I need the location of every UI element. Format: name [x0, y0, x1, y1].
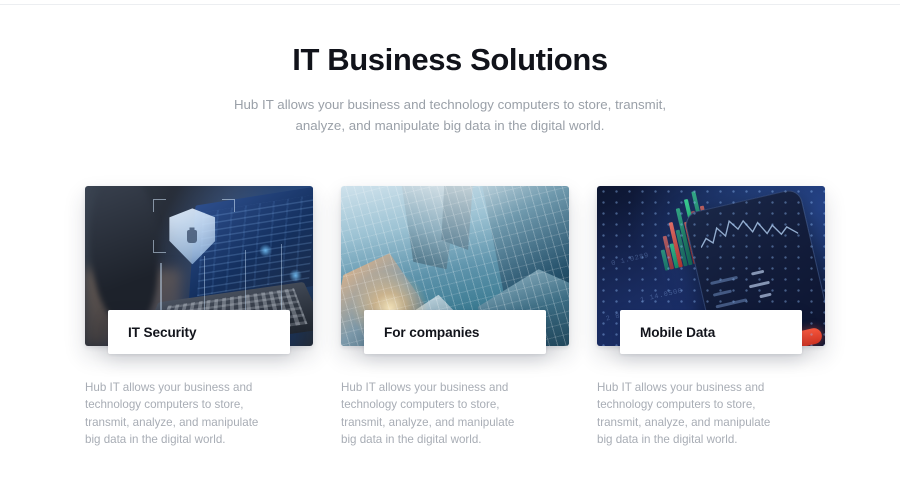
- page-subtitle: Hub IT allows your business and technolo…: [210, 95, 690, 136]
- card-label[interactable]: IT Security: [108, 310, 290, 354]
- card-label-text: For companies: [384, 325, 479, 340]
- card-for-companies[interactable]: For companies Hub IT allows your busines…: [341, 186, 569, 449]
- card-mobile-data[interactable]: 0 1.0289 1 14.0500 2 8: [597, 186, 825, 449]
- card-label-text: Mobile Data: [640, 325, 715, 340]
- card-body-text: Hub IT allows your business and technolo…: [341, 379, 521, 449]
- page-container: IT Business Solutions Hub IT allows your…: [0, 5, 900, 488]
- phone-stats: [710, 265, 788, 316]
- card-label[interactable]: For companies: [364, 310, 546, 354]
- card-body-text: Hub IT allows your business and technolo…: [597, 379, 777, 449]
- line-chart-icon: [695, 200, 799, 260]
- candlestick-chart: [649, 186, 741, 271]
- phone-chart: [695, 200, 803, 275]
- page-title: IT Business Solutions: [0, 41, 900, 78]
- cards-row: IT Security Hub IT allows your business …: [85, 186, 825, 449]
- card-body-text: Hub IT allows your business and technolo…: [85, 379, 265, 449]
- card-label[interactable]: Mobile Data: [620, 310, 802, 354]
- heading-block: IT Business Solutions Hub IT allows your…: [0, 5, 900, 136]
- card-it-security[interactable]: IT Security Hub IT allows your business …: [85, 186, 313, 449]
- card-label-text: IT Security: [128, 325, 196, 340]
